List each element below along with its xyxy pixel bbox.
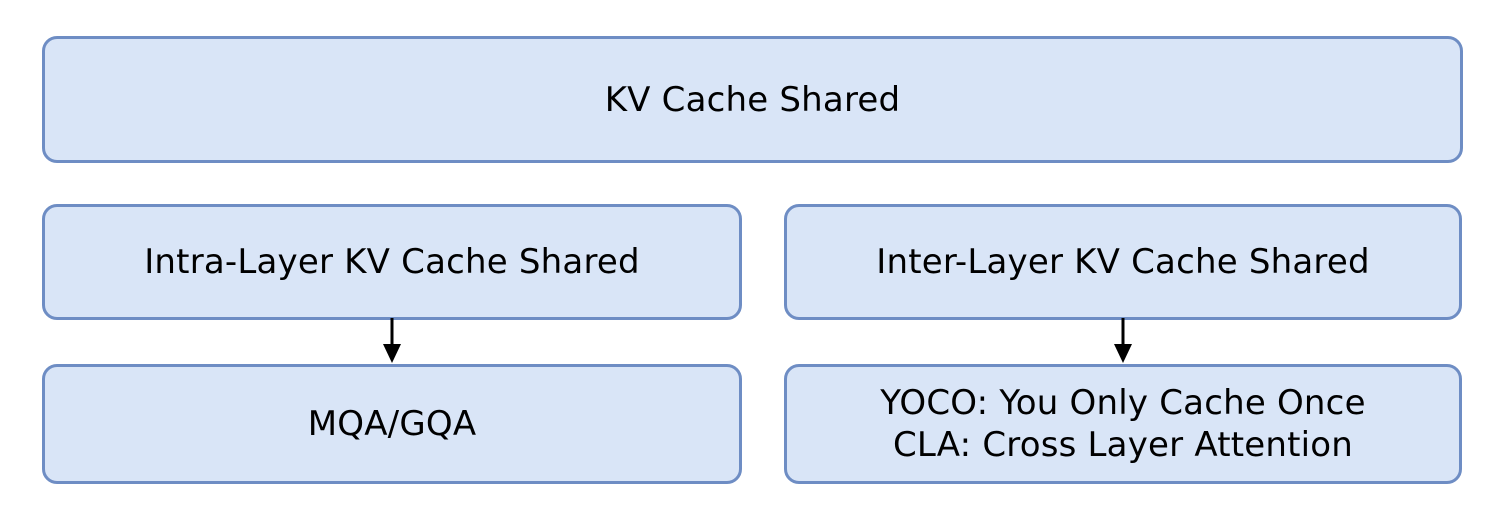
node-label-mqa-gqa: MQA/GQA	[308, 403, 477, 445]
arrow-down-icon-inter-to-yoco	[1111, 318, 1135, 364]
node-yoco-cla: YOCO: You Only Cache Once CLA: Cross Lay…	[784, 364, 1462, 484]
diagram-canvas: KV Cache Shared Intra-Layer KV Cache Sha…	[0, 0, 1506, 526]
node-label-inter-layer-kv-cache-shared: Inter-Layer KV Cache Shared	[876, 241, 1370, 283]
node-label-kv-cache-shared: KV Cache Shared	[605, 79, 901, 121]
node-mqa-gqa: MQA/GQA	[42, 364, 742, 484]
node-kv-cache-shared: KV Cache Shared	[42, 36, 1463, 163]
node-inter-layer-kv-cache-shared: Inter-Layer KV Cache Shared	[784, 204, 1462, 320]
node-label-yoco-cla: YOCO: You Only Cache Once CLA: Cross Lay…	[880, 382, 1365, 466]
arrow-down-icon-intra-to-mqa	[380, 318, 404, 364]
node-intra-layer-kv-cache-shared: Intra-Layer KV Cache Shared	[42, 204, 742, 320]
node-label-intra-layer-kv-cache-shared: Intra-Layer KV Cache Shared	[144, 241, 640, 283]
